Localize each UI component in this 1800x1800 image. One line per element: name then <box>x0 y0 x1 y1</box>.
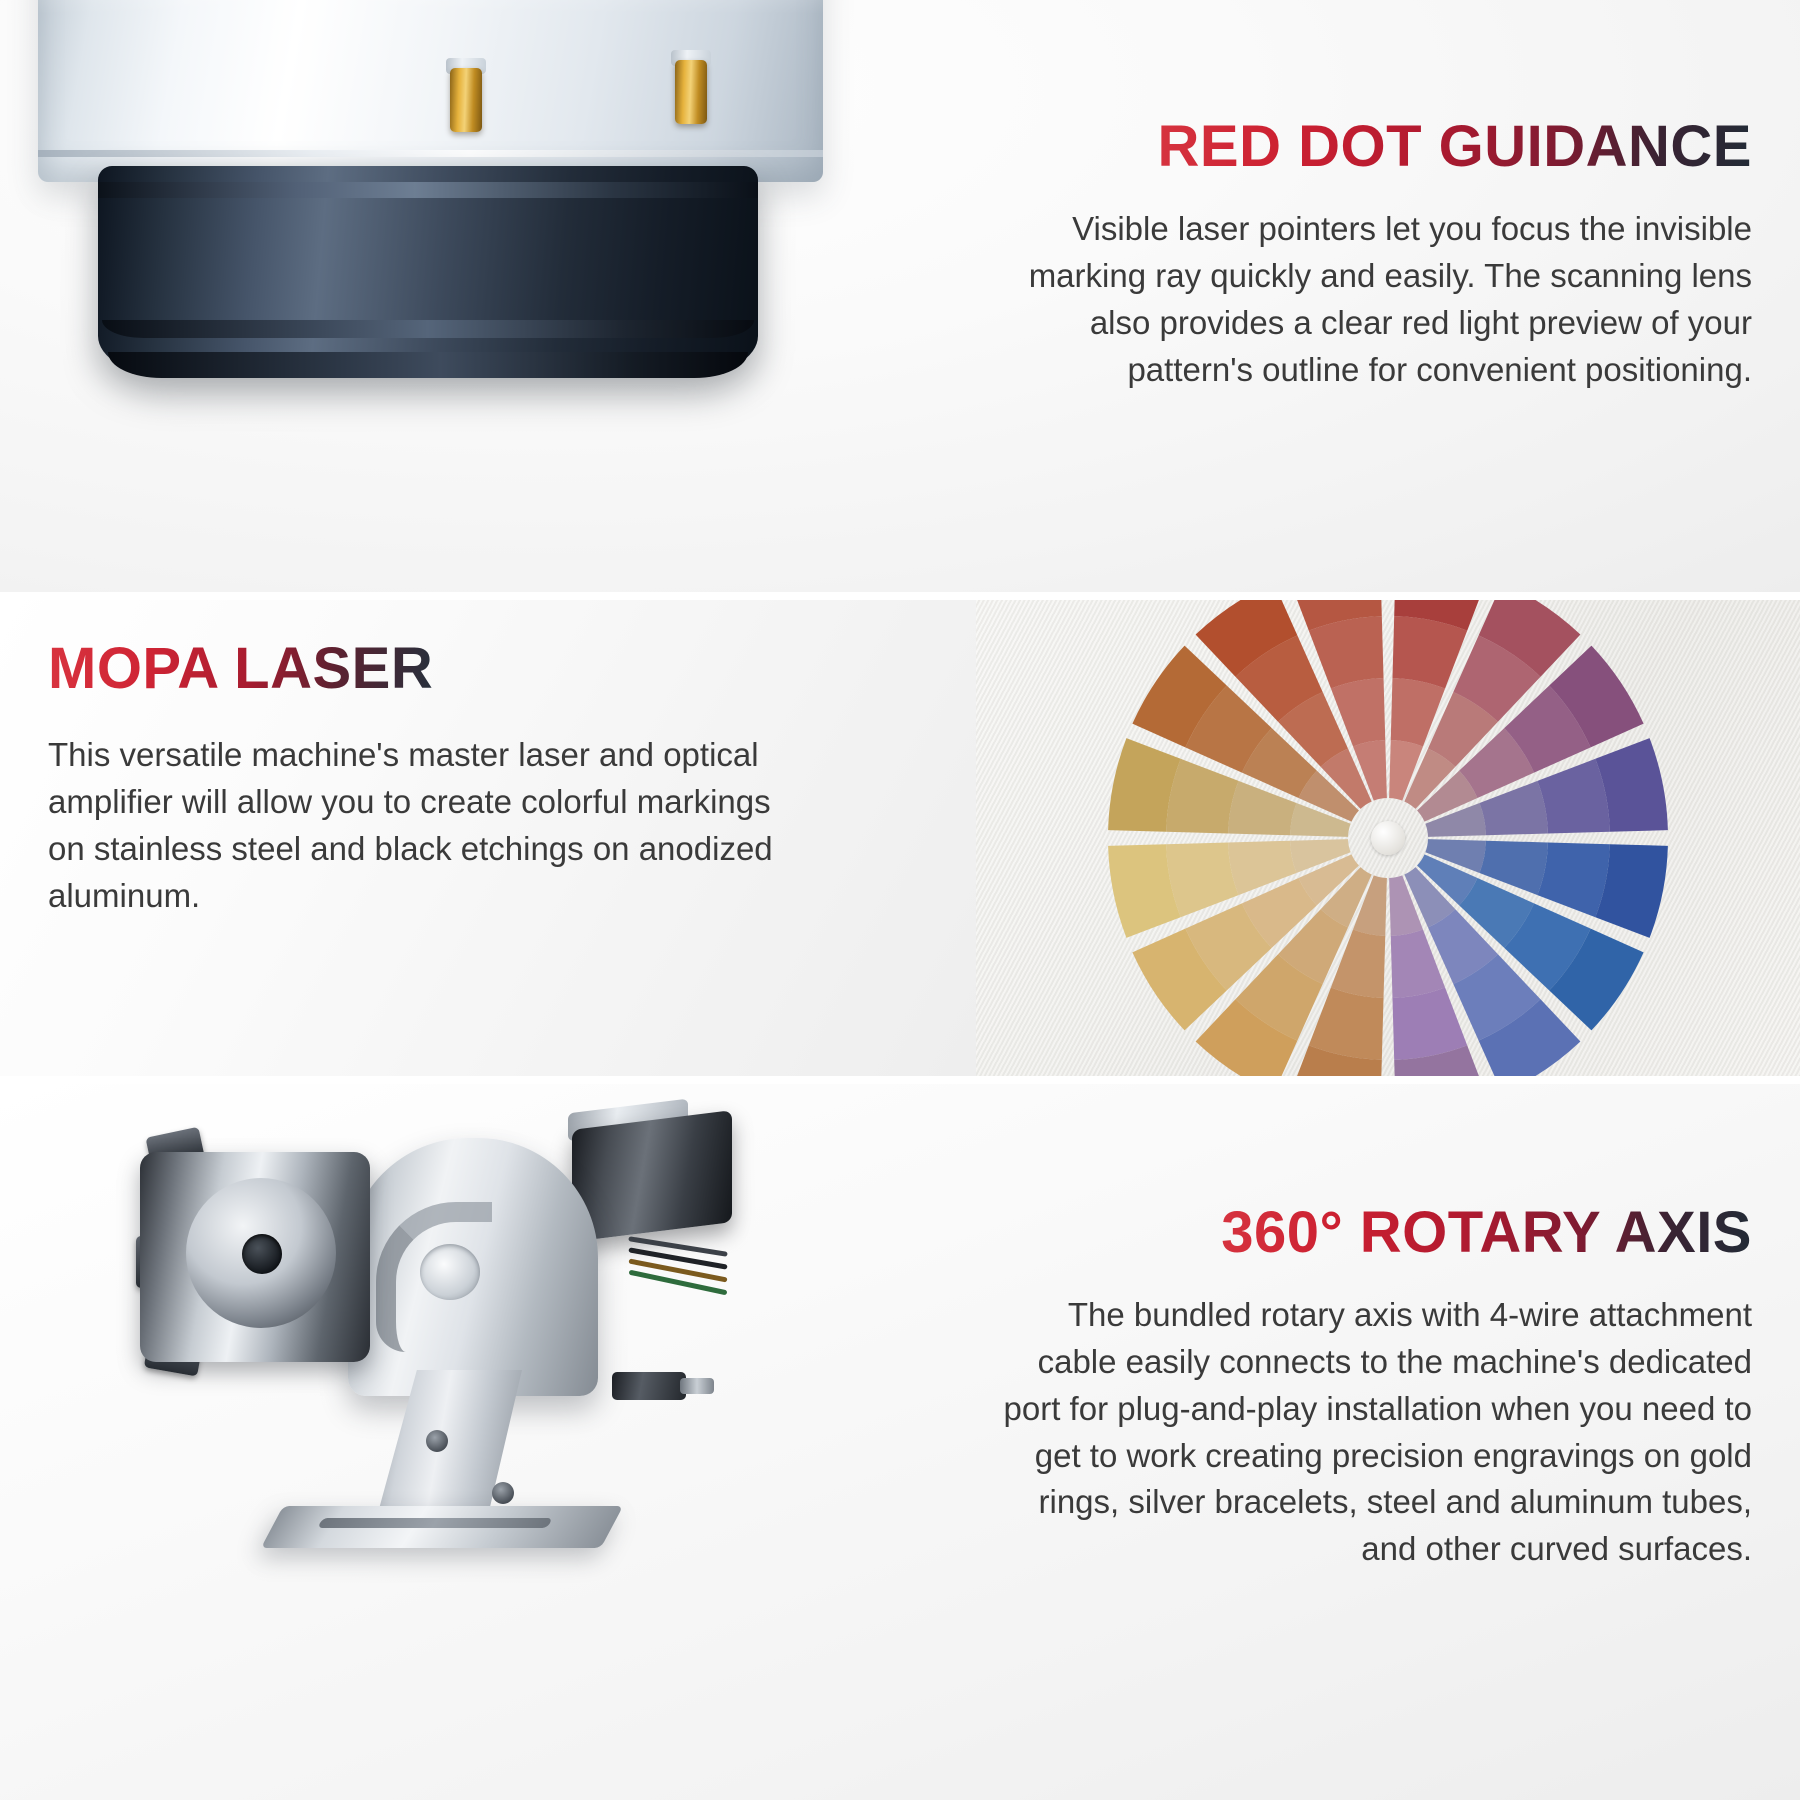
mopa-heading: MOPA LASER <box>48 640 433 698</box>
laser-head-photo <box>20 0 840 402</box>
color-wheel-swatch <box>1537 842 1609 917</box>
mopa-body: This versatile machine's master laser an… <box>48 732 808 919</box>
chuck-bore <box>242 1234 282 1274</box>
color-wheel-swatch <box>1392 616 1467 688</box>
color-wheel-swatch <box>1309 987 1384 1059</box>
red-dot-body: Visible laser pointers let you focus the… <box>1012 206 1752 393</box>
color-wheel-swatch <box>1166 759 1238 834</box>
section-rotary-axis: 360° ROTARY AXIS The bundled rotary axis… <box>0 1084 1800 1800</box>
red-dot-heading: RED DOT GUIDANCE <box>1158 118 1752 176</box>
wire-strand <box>629 1270 728 1296</box>
laser-head-seam <box>38 150 823 157</box>
rotary-copy-block: 360° ROTARY AXIS The bundled rotary axis… <box>992 1204 1752 1573</box>
color-wheel-swatch <box>1309 616 1384 688</box>
rotary-4-wire-cable <box>628 1244 736 1302</box>
laser-head-barrel-lip <box>108 352 748 378</box>
mopa-copy-block: MOPA LASER This versatile machine's mast… <box>48 640 808 919</box>
rotary-connector <box>612 1372 686 1400</box>
leg-bolt-hole <box>426 1430 448 1452</box>
rotary-stepper-motor <box>572 1110 732 1242</box>
color-wheel-hub <box>1371 821 1405 855</box>
base-plate-slot <box>317 1518 552 1528</box>
color-wheel-swatch <box>1392 987 1467 1059</box>
rotary-body: The bundled rotary axis with 4-wire atta… <box>992 1292 1752 1573</box>
leg-bolt-hole <box>492 1482 514 1504</box>
color-wheel-swatch <box>1166 842 1238 917</box>
laser-head-brass-pin <box>675 60 707 124</box>
laser-head-brass-pin <box>450 68 482 132</box>
color-wheel-swatch <box>1537 759 1609 834</box>
red-dot-copy-block: RED DOT GUIDANCE Visible laser pointers … <box>1012 118 1752 393</box>
section-mopa-laser: MOPA LASER This versatile machine's mast… <box>0 600 976 1076</box>
laser-head-barrel-ring <box>98 182 758 198</box>
rotary-connector-tip <box>680 1378 714 1394</box>
section-red-dot-guidance: RED DOT GUIDANCE Visible laser pointers … <box>0 0 1800 592</box>
laser-head-barrel-ring <box>102 320 754 338</box>
rotary-housing-port <box>420 1244 480 1300</box>
color-wheel-engraving-photo <box>976 600 1800 1076</box>
color-wheel-graphic <box>1098 600 1678 1076</box>
rotary-axis-photo <box>120 1094 680 1564</box>
infographic-page: RED DOT GUIDANCE Visible laser pointers … <box>0 0 1800 1800</box>
rotary-heading: 360° ROTARY AXIS <box>1221 1204 1752 1262</box>
